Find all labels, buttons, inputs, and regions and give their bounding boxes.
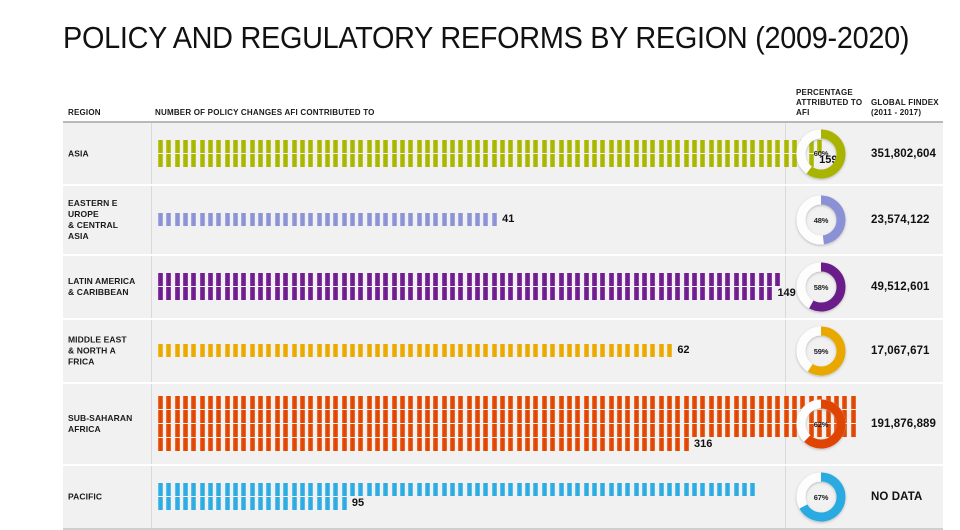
tick-mark [767,140,772,153]
tick-mark [375,273,380,286]
tick-mark [250,483,255,496]
tick-mark [592,483,597,496]
tick-mark [442,424,447,437]
tick-mark [659,344,664,357]
tick-mark [559,438,564,451]
tick-mark [225,410,230,423]
tick-mark [458,438,463,451]
region-label: ASIA [68,148,148,159]
tick-mark [308,497,313,510]
tick-mark [183,273,188,286]
tick-mark [450,396,455,409]
tick-mark [492,287,497,300]
tick-mark [475,424,480,437]
tick-bar-line: 95 [158,497,783,510]
tick-mark [400,287,405,300]
tick-mark [292,213,297,226]
tick-mark [425,396,430,409]
tick-mark [750,424,755,437]
tick-mark [592,410,597,423]
tick-mark [166,424,171,437]
tick-mark [333,273,338,286]
tick-mark [417,140,422,153]
tick-mark [625,483,630,496]
tick-mark [542,344,547,357]
tick-mark [158,154,163,167]
tick-mark [350,396,355,409]
tick-mark [216,140,221,153]
tick-mark [500,273,505,286]
tick-mark [392,438,397,451]
tick-mark [208,424,213,437]
tick-mark [283,396,288,409]
tick-mark [550,424,555,437]
tick-mark [642,396,647,409]
tick-mark [250,287,255,300]
tick-mark [317,483,322,496]
tick-mark [258,438,263,451]
tick-mark [158,438,163,451]
tick-mark [350,213,355,226]
region-label: LATIN AMERICA & CARIBBEAN [68,276,148,298]
tick-mark [725,273,730,286]
tick-mark [625,396,630,409]
tick-mark [750,396,755,409]
tick-mark [342,424,347,437]
tick-mark [183,213,188,226]
tick-mark [609,424,614,437]
tick-mark [208,483,213,496]
tick-mark [500,154,505,167]
tick-mark [175,213,180,226]
tick-mark [317,396,322,409]
tick-mark [317,438,322,451]
tick-mark [725,287,730,300]
tick-mark [158,273,163,286]
tick-mark [642,273,647,286]
tick-mark [433,483,438,496]
tick-mark [158,396,163,409]
tick-mark [392,213,397,226]
table-row: MIDDLE EAST & NORTH A FRICA6259%17,067,6… [63,320,943,384]
tick-mark [392,396,397,409]
tick-bar-line [158,140,783,153]
tick-bar-line: 62 [158,344,783,357]
tick-mark [166,396,171,409]
tick-mark [550,273,555,286]
tick-mark [675,273,680,286]
tick-mark [584,438,589,451]
column-divider [151,384,152,464]
tick-mark [342,273,347,286]
tick-mark [208,438,213,451]
tick-mark [675,396,680,409]
tick-mark [325,438,330,451]
tick-mark [542,483,547,496]
tick-mark [584,396,589,409]
tick-mark [450,154,455,167]
tick-mark [241,410,246,423]
tick-mark [292,396,297,409]
tick-bar-line: 41 [158,213,783,226]
tick-mark [659,273,664,286]
tick-mark [200,424,205,437]
tick-bar: 62 [158,344,783,358]
tick-mark [350,344,355,357]
tick-mark [584,410,589,423]
tick-mark [317,287,322,300]
tick-mark [492,410,497,423]
tick-mark [417,154,422,167]
tick-mark [308,140,313,153]
tick-mark [775,396,780,409]
tick-mark [617,483,622,496]
tick-mark [775,154,780,167]
tick-mark [333,410,338,423]
tick-mark [550,396,555,409]
tick-mark [266,438,271,451]
tick-mark [433,396,438,409]
tick-mark [266,140,271,153]
tick-mark [367,396,372,409]
tick-mark [542,287,547,300]
tick-mark [559,483,564,496]
region-label: SUB-SAHARAN AFRICA [68,413,148,435]
tick-mark [592,344,597,357]
table-row: ASIA15960%351,802,604 [63,123,943,186]
column-divider [151,320,152,382]
tick-mark [383,154,388,167]
tick-mark [692,410,697,423]
tick-mark [325,287,330,300]
tick-mark [458,483,463,496]
tick-mark [225,344,230,357]
tick-mark [375,410,380,423]
tick-mark [634,344,639,357]
tick-mark [517,140,522,153]
tick-mark [358,140,363,153]
tick-mark [559,154,564,167]
tick-mark [367,140,372,153]
tick-mark [650,424,655,437]
tick-mark [191,483,196,496]
tick-mark [458,424,463,437]
tick-mark [542,396,547,409]
tick-mark [642,410,647,423]
tick-mark [425,154,430,167]
tick-mark [367,154,372,167]
tick-mark [759,424,764,437]
tick-mark [467,154,472,167]
tick-mark [425,424,430,437]
tick-mark [292,140,297,153]
tick-bar: 316 [158,396,783,452]
tick-mark [400,154,405,167]
tick-mark [233,483,238,496]
tick-mark [684,410,689,423]
tick-mark [517,483,522,496]
tick-mark [609,410,614,423]
tick-mark [475,273,480,286]
percentage-label: 58% [793,259,849,315]
tick-mark [609,140,614,153]
tick-mark [500,396,505,409]
tick-mark [241,287,246,300]
tick-mark [634,438,639,451]
tick-mark [684,483,689,496]
tick-mark [667,396,672,409]
tick-mark [550,140,555,153]
column-divider [151,186,152,254]
tick-mark [442,410,447,423]
tick-mark [191,154,196,167]
tick-mark [392,287,397,300]
tick-mark [216,483,221,496]
tick-mark [233,424,238,437]
tick-mark [258,213,263,226]
tick-mark [400,438,405,451]
table-row: PACIFIC9567%NO DATA [63,466,943,530]
tick-mark [392,410,397,423]
tick-mark [725,154,730,167]
tick-mark [650,396,655,409]
tick-mark [208,273,213,286]
tick-mark [575,438,580,451]
tick-mark [408,438,413,451]
tick-mark [584,287,589,300]
tick-mark [433,154,438,167]
tick-mark [200,483,205,496]
tick-mark [709,140,714,153]
tick-mark [183,287,188,300]
tick-mark [442,344,447,357]
tick-mark [158,140,163,153]
tick-mark [325,154,330,167]
tick-mark [517,154,522,167]
tick-mark [317,154,322,167]
tick-mark [659,140,664,153]
tick-mark [300,396,305,409]
tick-mark [266,154,271,167]
tick-mark [367,410,372,423]
tick-mark [525,424,530,437]
tick-mark [767,410,772,423]
tick-mark [417,410,422,423]
tick-mark [283,410,288,423]
tick-mark [508,344,513,357]
tick-mark [475,438,480,451]
tick-mark [784,410,789,423]
tick-mark [650,287,655,300]
tick-mark [383,483,388,496]
tick-mark [233,344,238,357]
tick-mark [600,483,605,496]
tick-mark [650,438,655,451]
tick-mark [592,287,597,300]
tick-mark [266,287,271,300]
tick-mark [659,483,664,496]
tick-mark [450,424,455,437]
tick-mark [392,424,397,437]
tick-mark [550,483,555,496]
tick-mark [508,410,513,423]
tick-mark [191,424,196,437]
tick-mark [575,273,580,286]
tick-mark [667,154,672,167]
tick-mark [475,154,480,167]
tick-mark [542,140,547,153]
tick-mark [767,154,772,167]
tick-mark [659,438,664,451]
tick-mark [358,483,363,496]
tick-mark [216,497,221,510]
tick-mark [300,213,305,226]
tick-mark [275,396,280,409]
tick-mark [759,287,764,300]
tick-mark [166,497,171,510]
tick-mark [266,344,271,357]
tick-mark [200,213,205,226]
tick-mark [675,438,680,451]
tick-mark [458,273,463,286]
tick-mark [350,410,355,423]
tick-mark [358,287,363,300]
tick-mark [166,483,171,496]
tick-mark [517,410,522,423]
tick-mark [784,140,789,153]
tick-mark [684,273,689,286]
tick-mark [542,424,547,437]
tick-mark [325,410,330,423]
bar-value-label: 95 [352,497,364,510]
tick-mark [692,424,697,437]
tick-mark [400,424,405,437]
tick-mark [684,424,689,437]
tick-mark [717,287,722,300]
tick-mark [317,424,322,437]
tick-mark [717,483,722,496]
tick-mark [417,273,422,286]
tick-mark [784,396,789,409]
region-label: PACIFIC [68,492,148,503]
tick-mark [308,396,313,409]
tick-mark [250,140,255,153]
tick-mark [617,424,622,437]
tick-mark [266,396,271,409]
tick-mark [634,273,639,286]
tick-mark [450,438,455,451]
tick-mark [183,483,188,496]
tick-mark [617,287,622,300]
tick-mark [600,140,605,153]
tick-mark [375,424,380,437]
tick-mark [342,140,347,153]
tick-mark [475,287,480,300]
tick-mark [241,344,246,357]
tick-mark [367,483,372,496]
tick-mark [216,154,221,167]
tick-mark [517,438,522,451]
tick-mark [383,438,388,451]
tick-mark [383,140,388,153]
tick-mark [300,154,305,167]
tick-mark [550,410,555,423]
tick-mark [750,287,755,300]
tick-mark [275,424,280,437]
tick-mark [483,287,488,300]
tick-mark [175,483,180,496]
tick-mark [650,344,655,357]
tick-mark [200,273,205,286]
tick-mark [742,140,747,153]
tick-mark [767,424,772,437]
tick-mark [642,154,647,167]
tick-mark [200,396,205,409]
tick-mark [375,213,380,226]
tick-mark [517,273,522,286]
tick-mark [208,154,213,167]
tick-mark [700,483,705,496]
tick-mark [216,287,221,300]
tick-mark [492,424,497,437]
tick-mark [667,424,672,437]
tick-mark [258,410,263,423]
tick-mark [367,438,372,451]
tick-mark [659,424,664,437]
tick-mark [592,154,597,167]
tick-mark [283,438,288,451]
tick-mark [183,344,188,357]
tick-mark [742,287,747,300]
tick-mark [225,154,230,167]
tick-mark [450,287,455,300]
tick-mark [725,483,730,496]
tick-mark [550,154,555,167]
tick-mark [191,497,196,510]
tick-mark [300,438,305,451]
tick-mark [425,273,430,286]
tick-mark [175,273,180,286]
tick-mark [258,140,263,153]
tick-mark [425,483,430,496]
tick-mark [625,273,630,286]
tick-mark [617,396,622,409]
tick-mark [692,140,697,153]
tick-mark [308,273,313,286]
tick-mark [333,287,338,300]
tick-mark [325,213,330,226]
tick-mark [525,154,530,167]
tick-mark [200,438,205,451]
tick-mark [642,140,647,153]
tick-mark [166,140,171,153]
tick-mark [158,483,163,496]
tick-mark [250,273,255,286]
table-row: SUB-SAHARAN AFRICA31662%191,876,889 [63,384,943,466]
tick-mark [308,483,313,496]
tick-mark [275,213,280,226]
tick-mark [233,213,238,226]
tick-mark [500,140,505,153]
tick-mark [533,438,538,451]
tick-mark [517,396,522,409]
tick-mark [216,273,221,286]
tick-mark [742,396,747,409]
tick-mark [175,287,180,300]
tick-mark [717,410,722,423]
tick-mark [533,483,538,496]
tick-mark [292,154,297,167]
